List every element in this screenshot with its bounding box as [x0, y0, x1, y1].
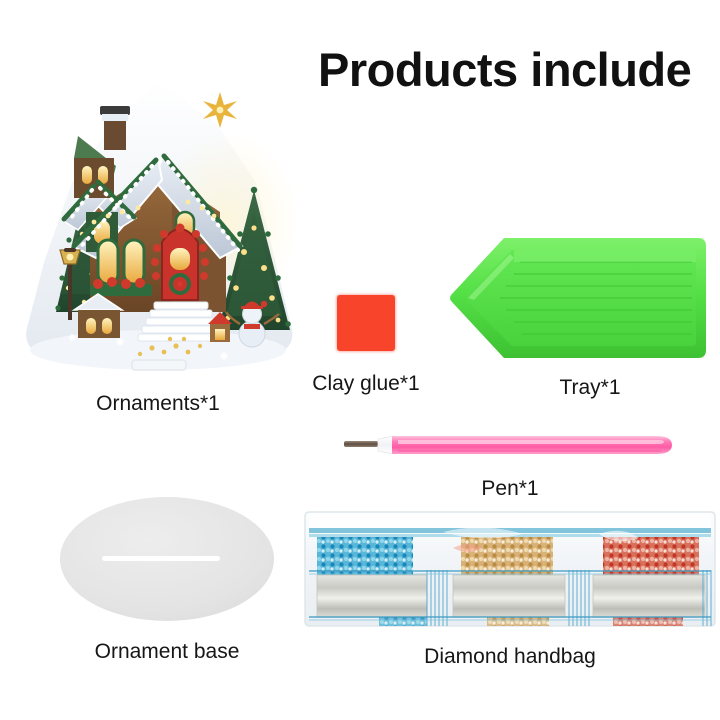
ornament-base-illustration: [58, 496, 276, 626]
ornament-base-caption: Ornament base: [58, 640, 276, 664]
tray-caption: Tray*1: [500, 376, 680, 400]
diamond-handbag-illustration: [303, 508, 717, 630]
pen-illustration: [336, 428, 686, 462]
clay-glue-caption: Clay glue*1: [276, 372, 456, 396]
product-contents-image: Products include: [0, 0, 720, 720]
clay-glue-swatch: [337, 295, 395, 351]
ornament-caption: Ornaments*1: [18, 392, 298, 416]
tray-illustration: [448, 228, 710, 368]
ornament-illustration: [12, 62, 304, 374]
diamond-handbag-caption: Diamond handbag: [380, 645, 640, 669]
page-title: Products include: [318, 42, 691, 97]
pen-caption: Pen*1: [420, 477, 600, 501]
